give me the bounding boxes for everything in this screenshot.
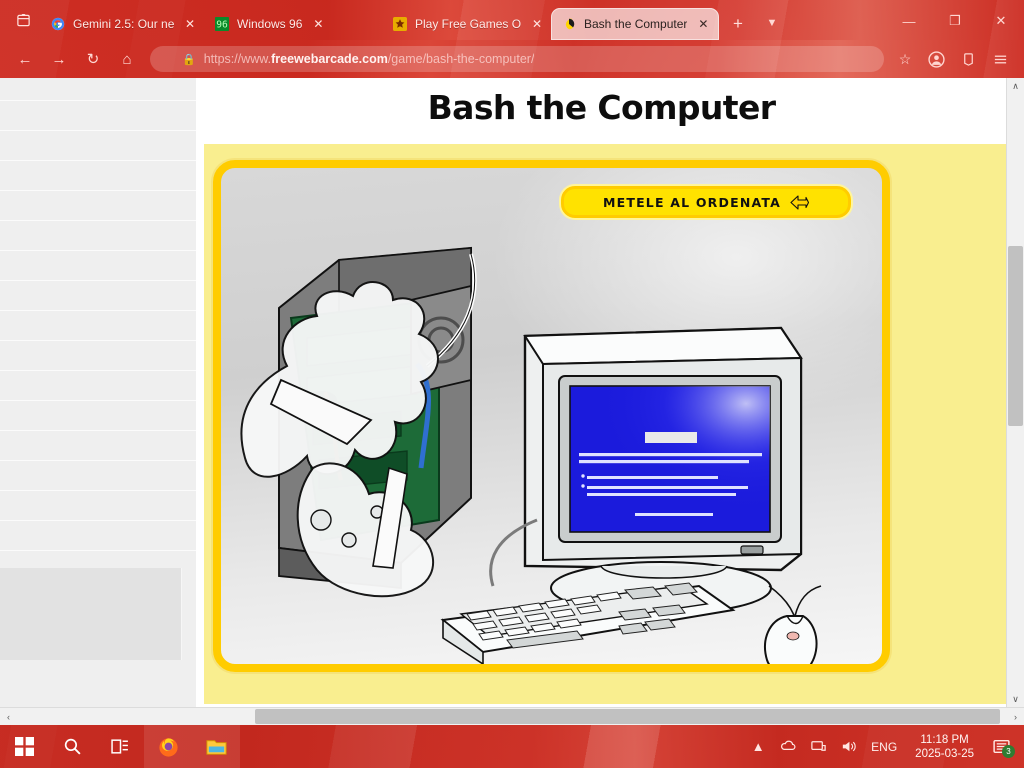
tab-close-icon[interactable]: ✕ <box>529 16 545 32</box>
tab-gemini[interactable]: Gemini 2.5: Our newes ✕ <box>40 8 204 40</box>
new-tab-button[interactable]: + <box>725 10 751 36</box>
smashed-pc-tower <box>241 248 474 596</box>
network-icon[interactable] <box>803 725 833 768</box>
search-icon[interactable] <box>48 725 96 768</box>
svg-text:96: 96 <box>216 20 228 31</box>
page-content: Bash the Computer <box>196 78 1007 708</box>
tab-close-icon[interactable]: ✕ <box>310 16 326 32</box>
url-text: https://www.freewebarcade.com/game/bash-… <box>204 52 535 66</box>
tab-title: Windows 96 <box>237 17 302 31</box>
language-indicator[interactable]: ENG <box>863 740 905 754</box>
tab-title: Play Free Games Onlin <box>415 17 521 31</box>
tab-strip: Gemini 2.5: Our newes ✕ 96 Windows 96 ✕ … <box>0 0 1024 40</box>
file-explorer-icon[interactable] <box>192 725 240 768</box>
minimize-button[interactable]: — <box>886 4 932 38</box>
scroll-down-arrow-icon[interactable]: ∨ <box>1007 691 1024 708</box>
vertical-scrollbar[interactable]: ∧ ∨ <box>1006 78 1024 708</box>
horizontal-scroll-thumb[interactable] <box>255 709 1000 724</box>
maximize-button[interactable]: ❐ <box>932 4 978 38</box>
tab-windows96[interactable]: 96 Windows 96 ✕ <box>204 8 382 40</box>
game-banner: METELE AL ORDENATA <box>561 186 851 218</box>
windows96-icon: 96 <box>214 16 230 32</box>
crt-monitor <box>525 328 801 614</box>
hamburger-menu-icon[interactable] <box>984 44 1016 74</box>
game-container: METELE AL ORDENATA HITS 72 <box>204 144 1007 704</box>
horizontal-scrollbar[interactable]: ‹ › <box>0 707 1024 725</box>
bash-the-computer-icon <box>561 16 577 32</box>
left-rail-placeholder-box <box>0 568 182 660</box>
double-arrow-icon <box>789 195 809 210</box>
address-bar[interactable]: 🔒 https://www.freewebarcade.com/game/bas… <box>150 46 884 72</box>
star-icon[interactable]: ☆ <box>890 44 920 74</box>
game-banner-text: METELE AL ORDENATA <box>603 195 781 210</box>
tab-title: Bash the Computer <box>584 17 687 31</box>
scroll-right-arrow-icon[interactable]: › <box>1007 708 1024 725</box>
tab-bash-the-computer[interactable]: Bash the Computer ✕ <box>551 8 719 40</box>
lock-icon: 🔒 <box>182 53 196 66</box>
google-gemini-icon <box>50 16 66 32</box>
volume-icon[interactable] <box>833 725 863 768</box>
taskbar-clock[interactable]: 11:18 PM 2025-03-25 <box>905 733 984 761</box>
clock-date: 2025-03-25 <box>915 747 974 761</box>
windows-taskbar: ▲ ENG 11:18 PM 2025-03-25 3 <box>0 725 1024 768</box>
close-button[interactable]: ✕ <box>978 4 1024 38</box>
reload-icon[interactable]: ↻ <box>76 44 110 74</box>
home-icon[interactable]: ⌂ <box>110 44 144 74</box>
page-viewport: Bash the Computer <box>0 78 1024 725</box>
back-icon[interactable]: ← <box>8 44 42 74</box>
extensions-icon[interactable] <box>952 44 984 74</box>
onedrive-icon[interactable] <box>773 725 803 768</box>
notifications-icon[interactable]: 3 <box>984 725 1018 768</box>
vertical-scroll-thumb[interactable] <box>1008 246 1023 426</box>
account-avatar-icon[interactable] <box>920 44 952 74</box>
notification-badge: 3 <box>1002 745 1015 758</box>
browser-window: Gemini 2.5: Our newes ✕ 96 Windows 96 ✕ … <box>0 0 1024 725</box>
forward-icon[interactable]: → <box>42 44 76 74</box>
tab-close-icon[interactable]: ✕ <box>182 16 198 32</box>
task-view-icon[interactable] <box>96 725 144 768</box>
toolbar-actions <box>920 44 1016 74</box>
show-hidden-icons-chevron[interactable]: ▲ <box>743 725 773 768</box>
clock-time: 11:18 PM <box>915 733 974 747</box>
tab-title: Gemini 2.5: Our newes <box>73 17 174 31</box>
url-path: /game/bash-the-computer/ <box>388 52 535 66</box>
game-artwork[interactable] <box>221 168 882 664</box>
freewebarcade-icon <box>392 16 408 32</box>
firefox-icon[interactable] <box>144 725 192 768</box>
left-rail <box>0 78 196 708</box>
mouse <box>765 586 821 664</box>
url-domain: freewebarcade.com <box>271 52 388 66</box>
tab-search-chevron-icon[interactable]: ▼ <box>759 10 785 36</box>
tab-close-icon[interactable]: ✕ <box>695 16 711 32</box>
windows-start-icon[interactable] <box>0 725 48 768</box>
game-canvas[interactable]: METELE AL ORDENATA <box>213 160 890 672</box>
navigation-toolbar: ← → ↻ ⌂ 🔒 https://www.freewebarcade.com/… <box>0 40 1024 78</box>
scroll-up-arrow-icon[interactable]: ∧ <box>1007 78 1024 95</box>
scroll-left-arrow-icon[interactable]: ‹ <box>0 708 17 725</box>
window-controls: — ❐ ✕ <box>886 4 1024 38</box>
system-tray: ▲ ENG 11:18 PM 2025-03-25 3 <box>743 725 1024 768</box>
tab-list-icon[interactable] <box>6 3 40 37</box>
page-title: Bash the Computer <box>196 88 1007 127</box>
url-scheme: https://www. <box>204 52 271 66</box>
tab-freewebarcade[interactable]: Play Free Games Onlin ✕ <box>382 8 551 40</box>
